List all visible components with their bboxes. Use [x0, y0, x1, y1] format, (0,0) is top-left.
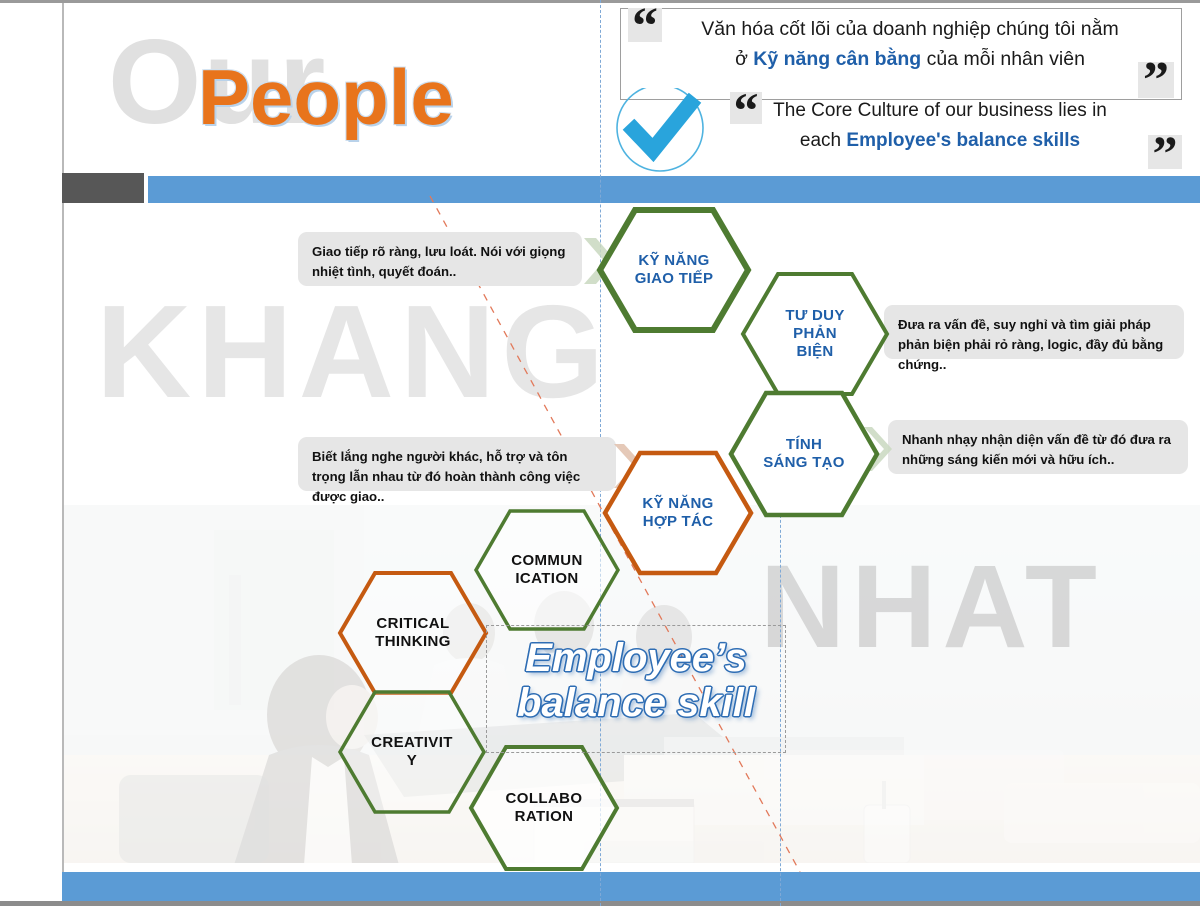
callout-sang-tao: Nhanh nhạy nhận diện vấn đề từ đó đưa ra…: [888, 420, 1188, 474]
quote-vietnamese: Văn hóa cốt lõi của doanh nghiệp chúng t…: [660, 14, 1160, 74]
hexagon-giao-tiep[interactable]: KỸ NĂNG GIAO TIẾP: [596, 206, 752, 334]
watermark-khang: KHANG: [96, 286, 610, 418]
quote-vi-line2-post: của mỗi nhân viên: [921, 48, 1085, 70]
center-wordart-line2: balance skill: [486, 681, 786, 726]
page-title: People: [198, 58, 454, 136]
quote-vi-line1: Văn hóa cốt lõi của doanh nghiệp chúng t…: [660, 14, 1160, 44]
slide-bottom-edge: [0, 901, 1200, 906]
center-wordart: Employee’s balance skill: [486, 636, 786, 726]
header-dark-block: [62, 173, 144, 203]
hexagon-critical-thinking[interactable]: CRITICAL THINKING: [337, 570, 489, 696]
watermark-nhat: NHAT: [760, 548, 1103, 666]
hexagon-creativity[interactable]: CREATIVIT Y: [337, 689, 487, 815]
slide-canvas: Our KHANG NHAT People “ ” “ ” Văn hóa cố…: [0, 0, 1200, 906]
callout-giao-tiep: Giao tiếp rõ ràng, lưu loát. Nói với giọ…: [298, 232, 582, 286]
quote-open-icon: “: [628, 8, 662, 42]
header-blue-bar: [148, 176, 1200, 203]
center-wordart-line1: Employee’s: [486, 636, 786, 681]
slide-left-rule: [62, 3, 64, 901]
hexagon-ky-nang-hop-tac[interactable]: KỸ NĂNG HỢP TÁC: [602, 450, 754, 576]
hexagon-tu-duy-phan-bien[interactable]: TƯ DUY PHẢN BIỆN: [740, 271, 890, 397]
hexagon-communication[interactable]: COMMUN ICATION: [473, 508, 621, 632]
quote-en-line2-pre: each: [800, 130, 846, 151]
footer-blue-bar: [62, 872, 1200, 901]
check-icon: [600, 88, 720, 174]
quote-en-highlight: Employee's balance skills: [846, 130, 1080, 151]
callout-phan-bien: Đưa ra vấn đề, suy nghỉ và tìm giải pháp…: [884, 305, 1184, 359]
hexagon-collaboration[interactable]: COLLABO RATION: [468, 744, 620, 872]
quote-vi-line2-pre: ở: [735, 48, 753, 70]
quote-en-line2: each Employee's balance skills: [720, 126, 1160, 156]
quote-vi-line2: ở Kỹ năng cân bằng của mỗi nhân viên: [660, 44, 1160, 74]
quote-english: The Core Culture of our business lies in…: [720, 96, 1160, 157]
quote-vi-highlight: Kỹ năng cân bằng: [753, 48, 921, 70]
callout-hop-tac: Biết lắng nghe người khác, hỗ trợ và tôn…: [298, 437, 616, 491]
quote-en-line1: The Core Culture of our business lies in: [720, 96, 1160, 126]
slide-top-edge: [0, 0, 1200, 3]
